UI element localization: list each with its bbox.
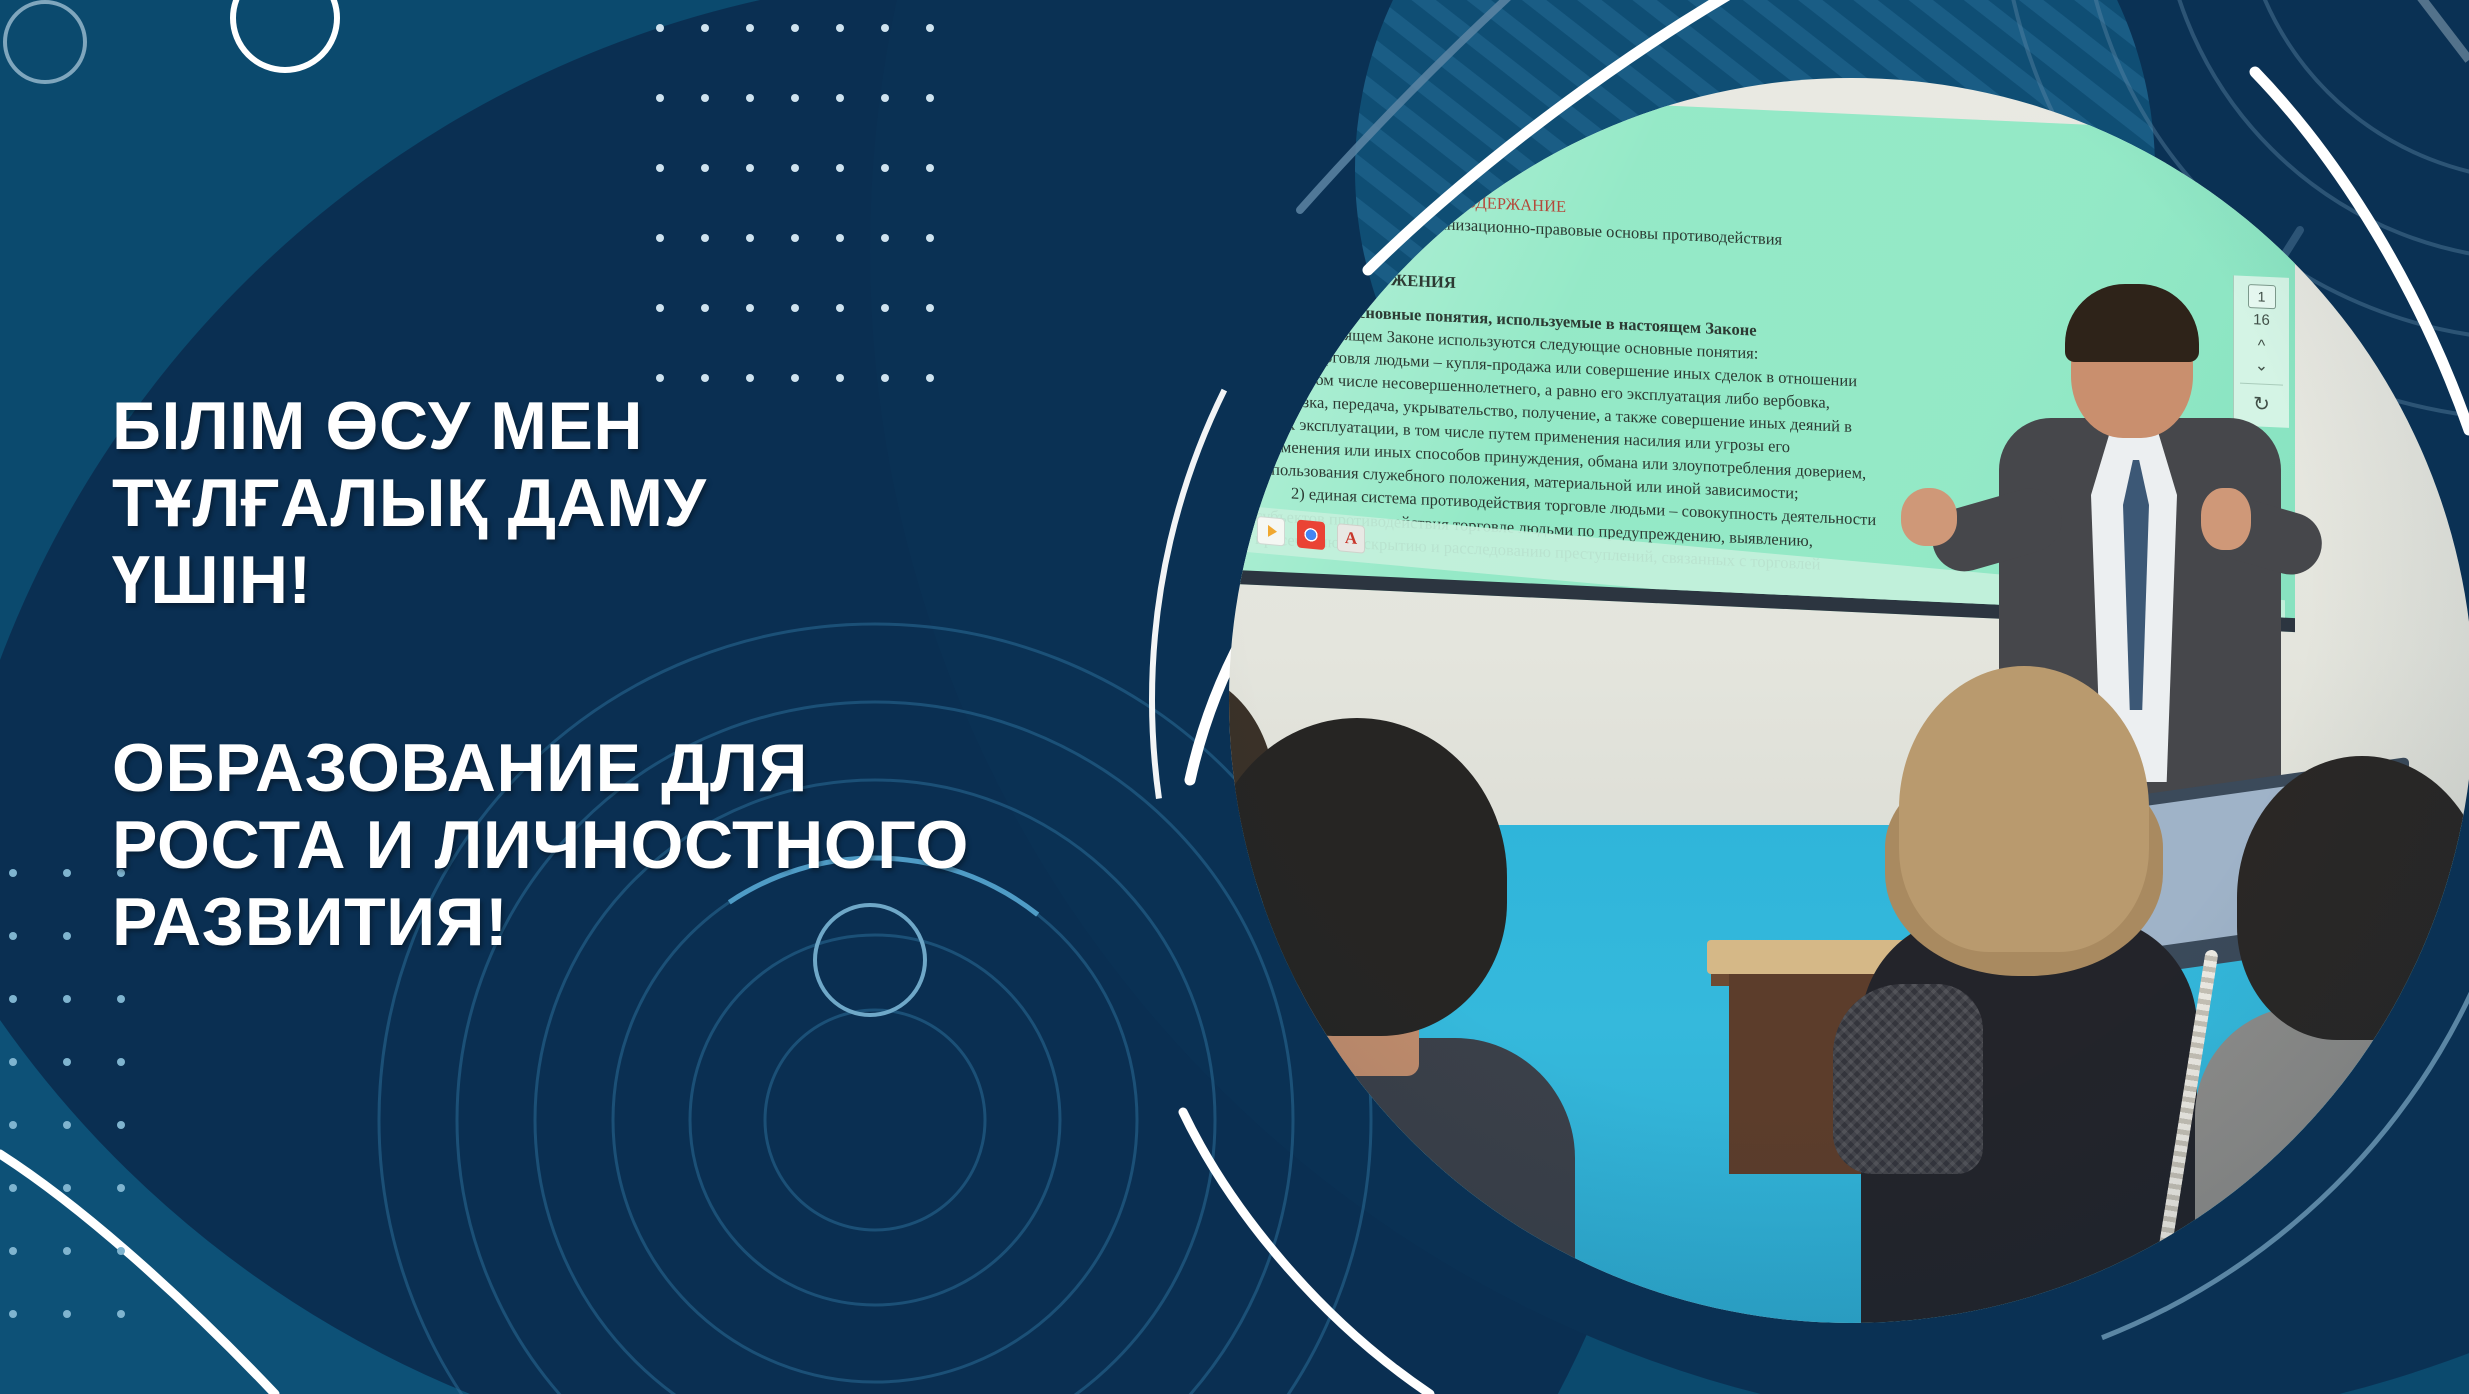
slide-canvas: н от 5 июля 2024 года № 110-VIII ЗРК. де… xyxy=(0,0,2469,1394)
classroom-photo: н от 5 июля 2024 года № 110-VIII ЗРК. де… xyxy=(1229,78,2469,1323)
photo-vignette xyxy=(1229,78,2469,1323)
